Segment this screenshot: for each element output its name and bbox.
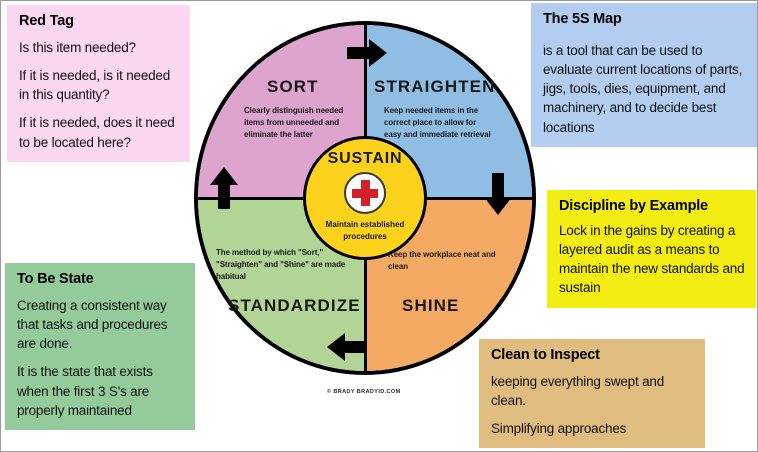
callout-to-be-state: To Be State Creating a consistent way th… [5,263,195,430]
callout-red-tag-para-2: If it is needed, is it needed in this qu… [19,66,180,104]
quadrant-standardize-label: STANDARDIZE [228,296,361,316]
arrow-left-icon [327,333,367,366]
callout-discipline-para-1: Lock in the gains by creating a layered … [559,221,746,298]
callout-red-tag-para-1: Is this item needed? [19,38,180,57]
sustain-label: SUSTAIN [328,150,403,168]
callout-red-tag-para-3: If it is needed, does it need to be loca… [19,113,180,151]
callout-to-be-state-para-2: It is the state that exists when the fir… [17,362,185,419]
quadrant-sort-label: SORT [267,77,319,97]
callout-clean-para-1: keeping everything swept and clean. [491,372,695,410]
callout-5s-map: The 5S Map is a tool that can be used to… [531,3,757,147]
callout-discipline-by-example: Discipline by Example Lock in the gains … [547,190,756,308]
arrow-right-icon [347,39,387,72]
callout-clean-para-2: Simplifying approaches [491,419,695,438]
callout-to-be-state-para-1: Creating a consistent way that tasks and… [17,296,185,353]
quadrant-shine-description: Keep the workplace neat and clean [388,249,498,273]
wheel-credit-text: © BRADY BRADYID.COM [327,389,401,395]
sustain-description: Maintain established procedures [306,219,424,242]
red-cross-icon [344,172,386,214]
quadrant-straighten-label: STRAIGHTEN [374,77,496,97]
quadrant-straighten-description: Keep needed items in the correct place t… [384,105,494,140]
5s-wheel: SORT Clearly distinguish needed items fr… [194,21,536,375]
callout-red-tag-title: Red Tag [19,13,180,29]
arrow-up-icon [210,167,238,214]
callout-red-tag: Red Tag Is this item needed? If it is ne… [7,5,190,162]
arrow-down-icon [484,173,512,220]
callout-5s-map-para-1: is a tool that can be used to evaluate c… [543,41,747,137]
quadrant-shine-label: SHINE [402,296,459,316]
callout-5s-map-title: The 5S Map [543,11,747,27]
5s-diagram-page: Red Tag Is this item needed? If it is ne… [0,0,758,452]
callout-to-be-state-title: To Be State [17,271,185,287]
wheel-center-sustain: SUSTAIN Maintain established procedures [303,136,427,260]
quadrant-standardize-description: The method by which "Sort," "Straighten"… [216,247,351,282]
callout-discipline-title: Discipline by Example [559,198,746,214]
quadrant-sort-description: Clearly distinguish needed items from un… [244,105,359,140]
